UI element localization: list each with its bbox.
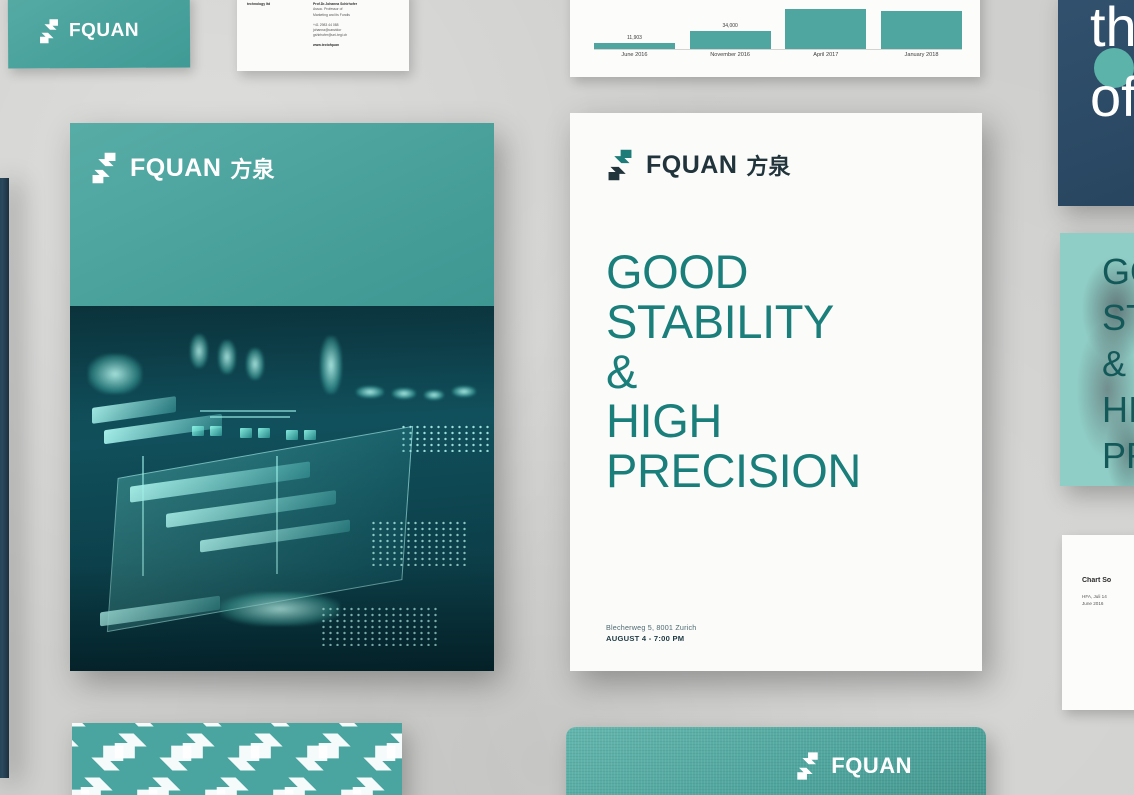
fquan-logo: FQUAN	[795, 751, 912, 781]
event-poster: FQUAN 方泉 GOOD STABILITY & HIGH PRECISION…	[570, 113, 982, 671]
bar-group: 34,000	[690, 23, 771, 49]
fquan-logo-mark	[314, 787, 366, 795]
navy-edge-strip	[0, 178, 9, 778]
headline-line: HIGH	[606, 396, 982, 446]
wordmark: FQUAN	[646, 151, 737, 180]
bar-category-label: April 2017	[785, 52, 866, 58]
green-poster-headline: GO ST & HI PR	[1102, 249, 1134, 479]
bar-category-label: January 2018	[881, 52, 962, 58]
poster-address: Blecherweg 5, 8001 Zurich	[606, 623, 697, 632]
brochure: FQUAN 方泉	[70, 123, 494, 671]
bar	[690, 31, 771, 49]
fquan-logo-mark	[38, 18, 60, 44]
chart-source-sheet: Chart So HFA, Juli 14 June 2016	[1062, 535, 1134, 710]
bar	[881, 11, 962, 49]
bar-category-label: June 2016	[594, 52, 675, 58]
brochure-header: FQUAN 方泉	[70, 123, 494, 306]
fquan-logo-mark	[795, 751, 820, 781]
poster-headline: GOOD STABILITY & HIGH PRECISION	[606, 247, 982, 496]
navy-card-bottom-text: of	[1090, 70, 1134, 123]
fquan-logo-mark	[246, 787, 298, 795]
brochure-photo	[70, 306, 494, 671]
headline-line: STABILITY	[606, 297, 982, 347]
fquan-logo-mark	[110, 787, 162, 795]
wordmark-cn: 方泉	[746, 149, 790, 181]
bar-group: 11,903	[594, 35, 675, 49]
headline-line: PRECISION	[606, 446, 982, 496]
fquan-logo-mark	[72, 787, 94, 795]
bar-chart-plot: 11,90334,000	[594, 0, 962, 50]
bar-chart: 11,90334,000	[594, 0, 962, 50]
headline-line: ST	[1102, 295, 1134, 341]
bc-contact-line3: gshirhofer@uni-tegi.ch	[313, 33, 399, 38]
source-line-1: HFA, Juli 14	[1082, 593, 1134, 600]
fquan-logo-mark	[382, 787, 402, 795]
headline-line: HI	[1102, 387, 1134, 433]
bar-value-label: 34,000	[723, 23, 738, 29]
fquan-logo: FQUAN 方泉	[606, 148, 982, 182]
wordmark: FQUAN	[69, 20, 139, 42]
source-line-2: June 2016	[1082, 600, 1134, 607]
bc-heading: technology ltd	[247, 2, 299, 7]
fquan-logo-mark	[606, 148, 634, 182]
teal-logo-card: FQUAN	[8, 0, 190, 68]
navy-card: th of	[1058, 0, 1134, 206]
fquan-logo-mark	[178, 787, 230, 795]
fabric-card: FQUAN	[566, 727, 986, 795]
headline-line: &	[606, 347, 982, 397]
mockup-canvas: FQUAN technology ltd Prof.Dr.Johanna Sch…	[0, 0, 1134, 795]
wordmark: FQUAN	[831, 753, 912, 779]
bar-chart-xaxis: June 2016November 2016April 2017January …	[594, 52, 962, 58]
headline-line: PR	[1102, 433, 1134, 479]
bar-group	[881, 9, 962, 49]
poster-footer: Blecherweg 5, 8001 Zurich AUGUST 4 - 7:0…	[606, 623, 697, 643]
fquan-logo-mark	[90, 151, 118, 185]
headline-line: GO	[1102, 249, 1134, 295]
wordmark: FQUAN	[130, 154, 221, 183]
fquan-logo: FQUAN	[38, 18, 139, 45]
business-card: technology ltd Prof.Dr.Johanna Schirhofe…	[237, 0, 409, 71]
source-title: Chart So	[1082, 577, 1134, 584]
bc-website: www.tectofquan	[313, 43, 399, 48]
bc-role-line2: Marketing and its Fundis	[313, 13, 399, 18]
fquan-logo: FQUAN 方泉	[90, 151, 274, 185]
headline-line: &	[1102, 341, 1134, 387]
navy-card-top-text: th	[1090, 0, 1134, 53]
wordmark-cn: 方泉	[230, 152, 274, 184]
bar	[594, 43, 675, 49]
bar-group	[785, 7, 866, 49]
bar	[785, 9, 866, 49]
bar-value-label: 11,903	[627, 35, 642, 41]
headline-line: GOOD	[606, 247, 982, 297]
pattern-card	[72, 723, 402, 795]
green-poster: GO ST & HI PR	[1060, 233, 1134, 486]
poster-datetime: AUGUST 4 - 7:00 PM	[606, 634, 697, 643]
bar-category-label: November 2016	[690, 52, 771, 58]
chart-sheet: 11,90334,000 June 2016November 2016April…	[570, 0, 980, 77]
